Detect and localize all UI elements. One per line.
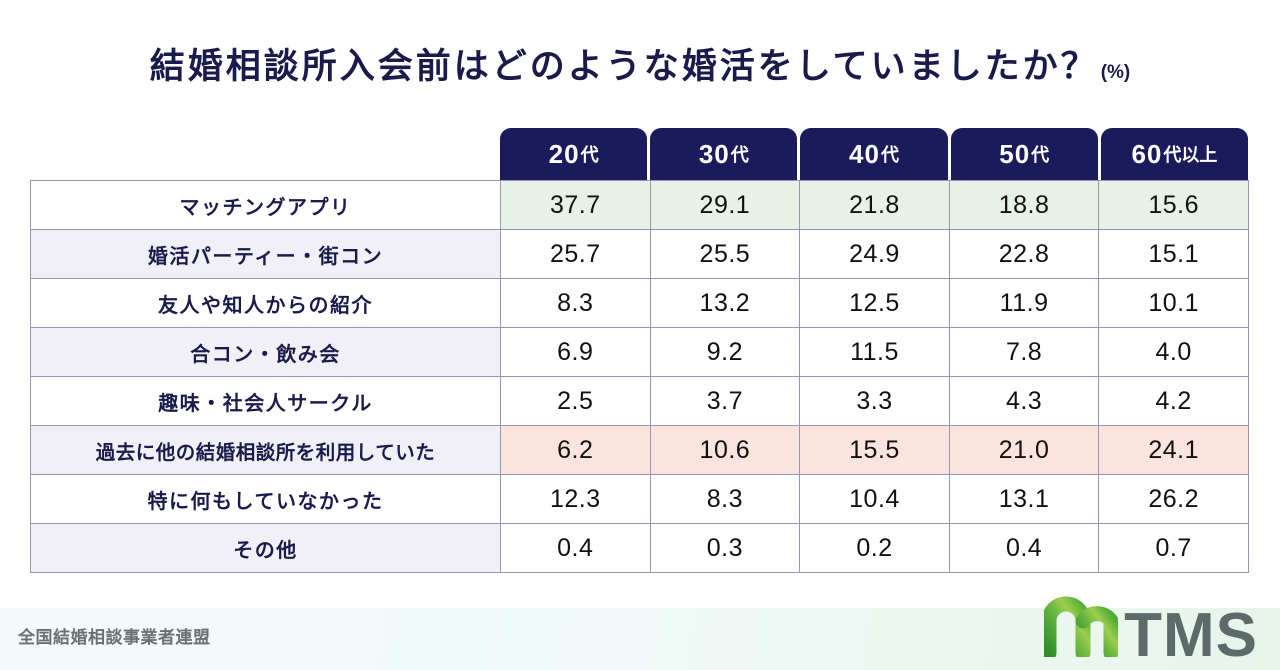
data-cell: 10.6 — [650, 426, 800, 475]
data-cell: 2.5 — [501, 377, 651, 426]
table-row: 過去に他の結婚相談所を利用していた6.210.615.521.024.1 — [31, 426, 1249, 475]
table-header-40: 40代 — [800, 128, 947, 180]
logo-wordmark: TMS — [1124, 611, 1258, 662]
row-label: マッチングアプリ — [31, 181, 501, 230]
data-cell: 6.9 — [501, 328, 651, 377]
table-row: 合コン・飲み会6.99.211.57.84.0 — [31, 328, 1249, 377]
data-cell: 15.1 — [1099, 230, 1249, 279]
row-label: 特に何もしていなかった — [31, 475, 501, 524]
data-cell: 3.7 — [650, 377, 800, 426]
header-suffix: 代 — [731, 141, 749, 167]
data-cell: 26.2 — [1099, 475, 1249, 524]
data-cell: 21.0 — [949, 426, 1099, 475]
table-header-30: 30代 — [650, 128, 797, 180]
row-label: 友人や知人からの紹介 — [31, 279, 501, 328]
data-cell: 11.9 — [949, 279, 1099, 328]
data-cell: 12.3 — [501, 475, 651, 524]
row-label: 過去に他の結婚相談所を利用していた — [31, 426, 501, 475]
data-cell: 0.4 — [949, 524, 1099, 573]
data-cell: 8.3 — [501, 279, 651, 328]
table-row: その他0.40.30.20.40.7 — [31, 524, 1249, 573]
data-cell: 37.7 — [501, 181, 651, 230]
header-suffix: 代 — [581, 141, 599, 167]
tms-logo: TMS — [1044, 593, 1258, 662]
table-header-50: 50代 — [951, 128, 1098, 180]
m-mark-icon — [1044, 593, 1118, 662]
table-row: マッチングアプリ37.729.121.818.815.6 — [31, 181, 1249, 230]
header-number: 40 — [849, 139, 880, 170]
data-cell: 11.5 — [800, 328, 950, 377]
data-cell: 0.2 — [800, 524, 950, 573]
survey-table: マッチングアプリ37.729.121.818.815.6婚活パーティー・街コン2… — [30, 180, 1249, 573]
data-cell: 7.8 — [949, 328, 1099, 377]
data-cell: 24.1 — [1099, 426, 1249, 475]
table-header-60: 60代以上 — [1101, 128, 1248, 180]
header-number: 60 — [1131, 139, 1162, 170]
data-cell: 15.5 — [800, 426, 950, 475]
page-title-unit: (%) — [1101, 62, 1131, 83]
page-title: 結婚相談所入会前はどのような婚活をしていましたか？(%) — [0, 38, 1280, 89]
data-cell: 10.4 — [800, 475, 950, 524]
header-number: 30 — [699, 139, 730, 170]
page-title-text: 結婚相談所入会前はどのような婚活をしていましたか？ — [150, 47, 1099, 86]
data-cell: 25.5 — [650, 230, 800, 279]
data-cell: 18.8 — [949, 181, 1099, 230]
table-header-20: 20代 — [500, 128, 647, 180]
table-row: 友人や知人からの紹介8.313.212.511.910.1 — [31, 279, 1249, 328]
data-table-container: 20代30代40代50代60代以上 マッチングアプリ37.729.121.818… — [30, 128, 1248, 573]
data-cell: 12.5 — [800, 279, 950, 328]
data-cell: 0.3 — [650, 524, 800, 573]
data-cell: 24.9 — [800, 230, 950, 279]
data-cell: 0.4 — [501, 524, 651, 573]
data-cell: 4.2 — [1099, 377, 1249, 426]
table-row: 特に何もしていなかった12.38.310.413.126.2 — [31, 475, 1249, 524]
header-suffix: 代 — [1031, 141, 1049, 167]
row-label: 合コン・飲み会 — [31, 328, 501, 377]
row-label: その他 — [31, 524, 501, 573]
row-label: 婚活パーティー・街コン — [31, 230, 501, 279]
footer-organization: 全国結婚相談事業者連盟 — [18, 623, 211, 648]
data-cell: 9.2 — [650, 328, 800, 377]
data-cell: 4.0 — [1099, 328, 1249, 377]
data-cell: 25.7 — [501, 230, 651, 279]
data-cell: 13.2 — [650, 279, 800, 328]
table-row: 趣味・社会人サークル2.53.73.34.34.2 — [31, 377, 1249, 426]
table-header-row: 20代30代40代50代60代以上 — [500, 128, 1248, 180]
data-cell: 0.7 — [1099, 524, 1249, 573]
data-cell: 29.1 — [650, 181, 800, 230]
data-cell: 4.3 — [949, 377, 1099, 426]
header-number: 50 — [999, 139, 1030, 170]
row-label: 趣味・社会人サークル — [31, 377, 501, 426]
data-cell: 21.8 — [800, 181, 950, 230]
data-cell: 3.3 — [800, 377, 950, 426]
table-row: 婚活パーティー・街コン25.725.524.922.815.1 — [31, 230, 1249, 279]
data-cell: 10.1 — [1099, 279, 1249, 328]
data-cell: 15.6 — [1099, 181, 1249, 230]
data-cell: 13.1 — [949, 475, 1099, 524]
data-cell: 6.2 — [501, 426, 651, 475]
data-cell: 22.8 — [949, 230, 1099, 279]
data-cell: 8.3 — [650, 475, 800, 524]
header-number: 20 — [549, 139, 580, 170]
header-suffix: 代以上 — [1163, 141, 1217, 167]
header-suffix: 代 — [881, 141, 899, 167]
